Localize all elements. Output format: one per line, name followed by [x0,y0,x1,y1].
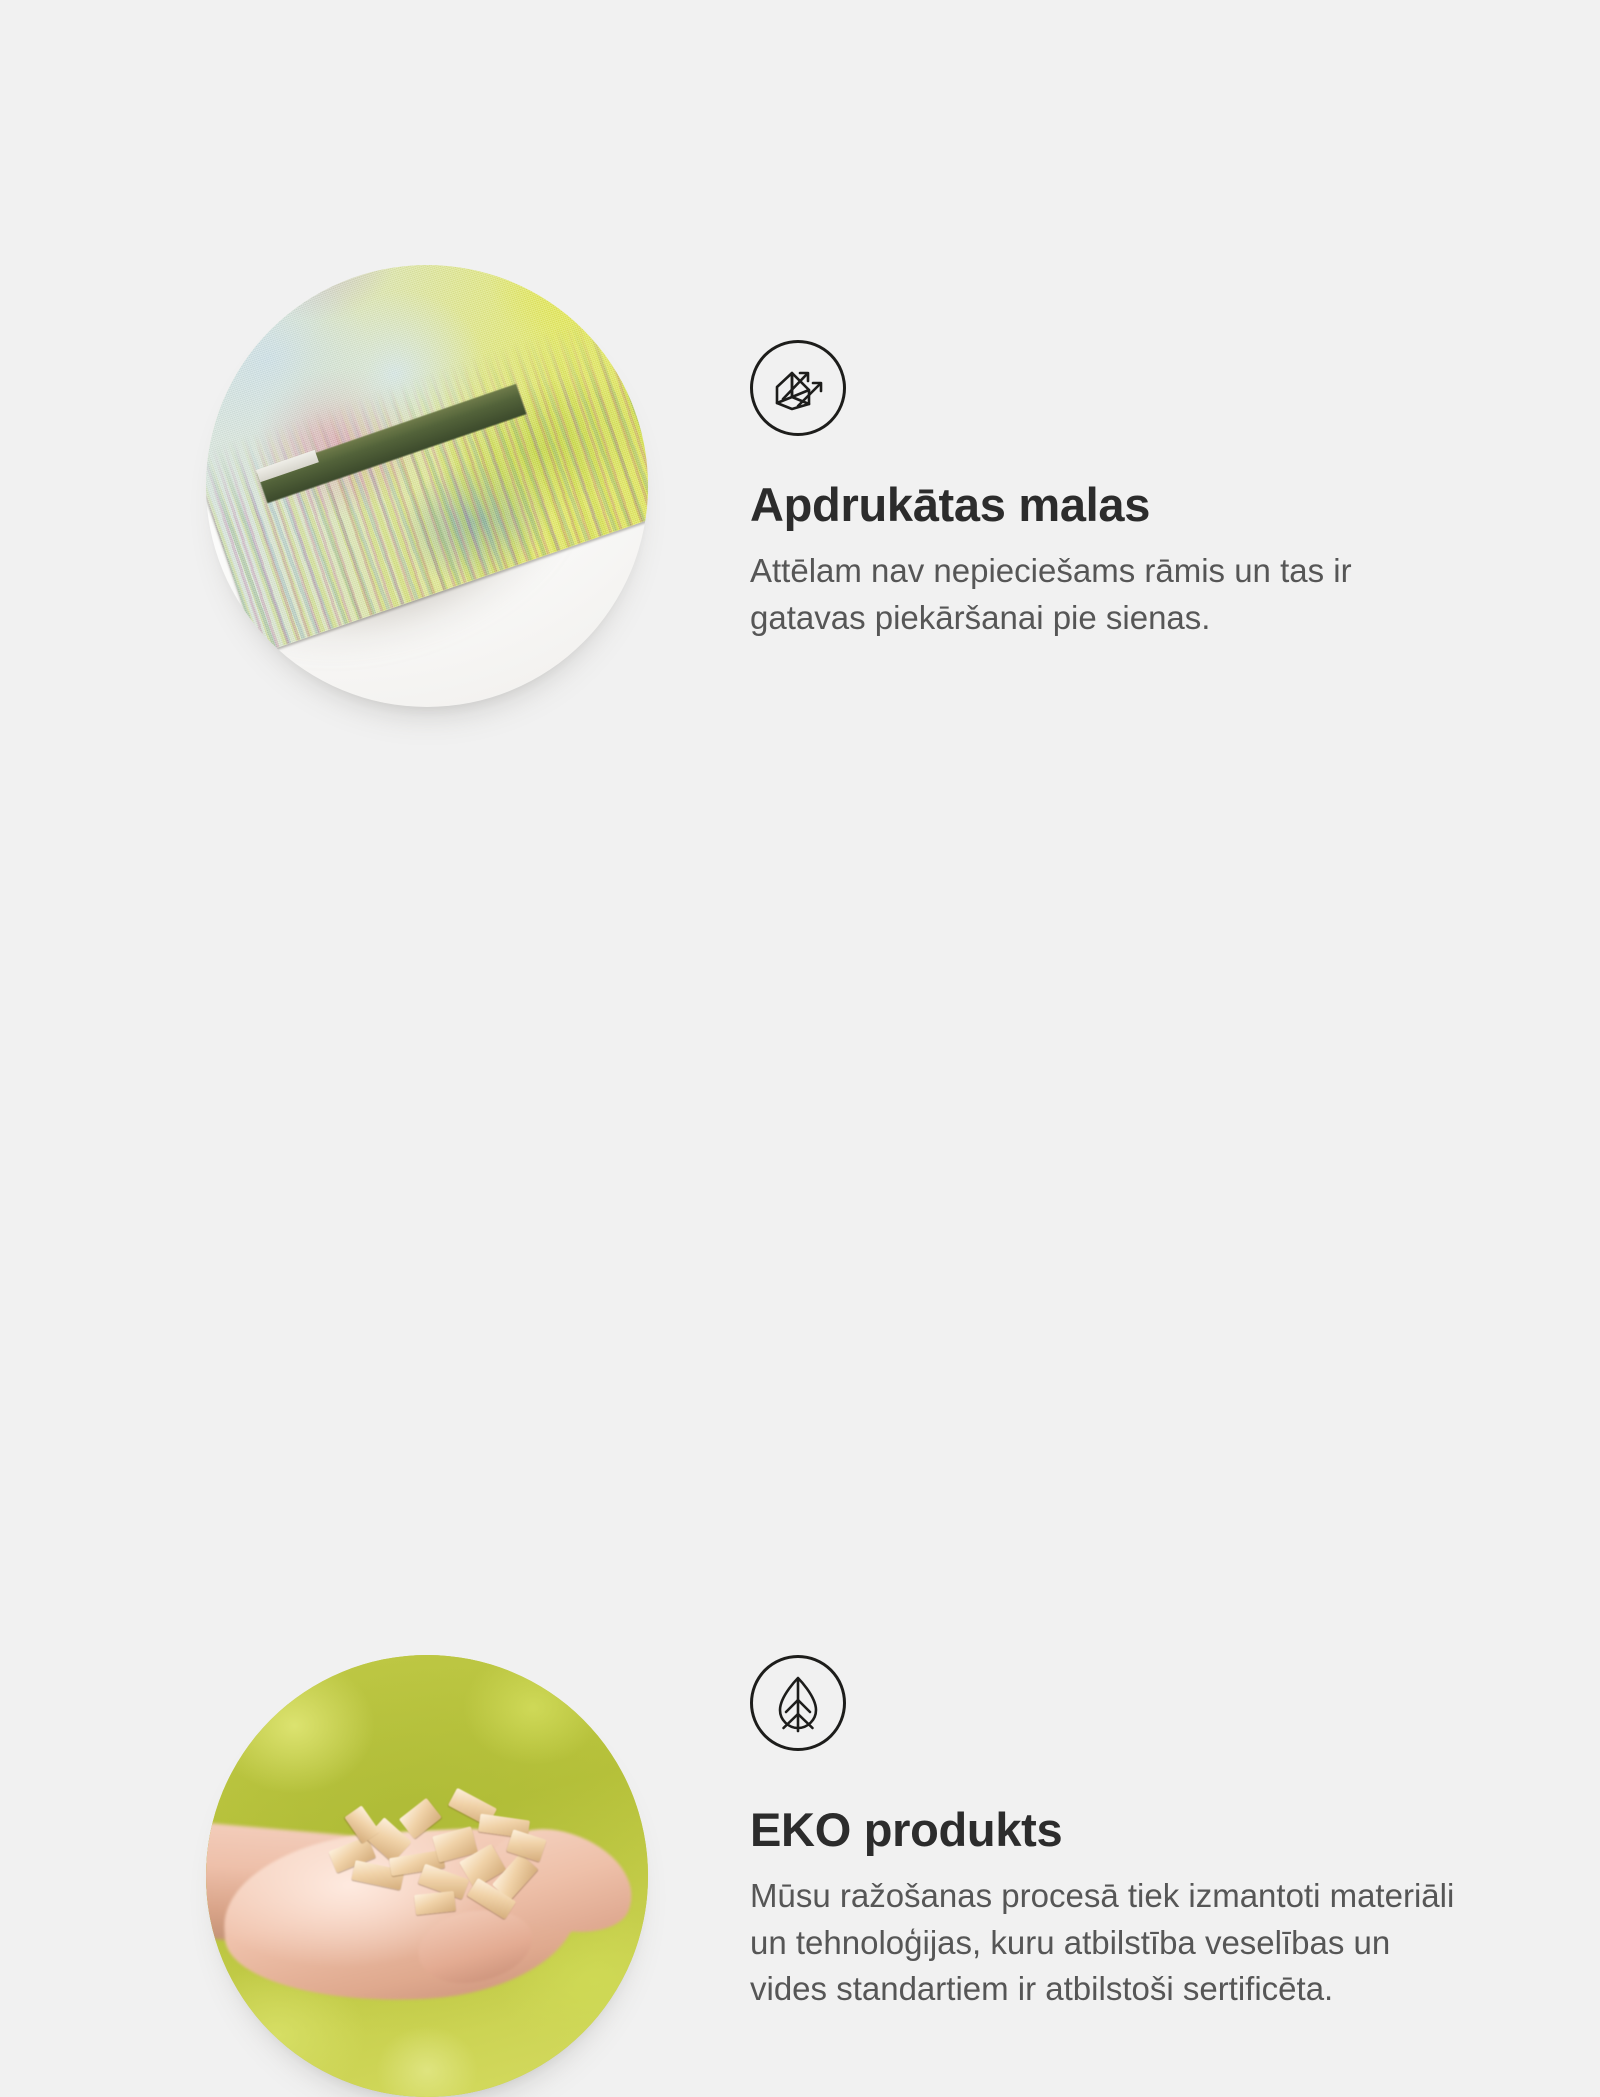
feature-content-printed-edges: Apdrukātas malas Attēlam nav nepieciešam… [750,340,1480,641]
feature-title-eco-product: EKO produkts [750,1804,1480,1856]
leaf-glyph [768,1673,828,1733]
feature-title-printed-edges: Apdrukātas malas [750,479,1480,531]
feature-printed-edges: Apdrukātas malas Attēlam nav nepieciešam… [0,0,1600,800]
feature-description-printed-edges: Attēlam nav nepieciešams rāmis un tas ir… [750,548,1472,642]
canvas-wrapped-edges-icon [750,340,846,436]
feature-image-printed-edges [206,265,648,707]
hand-holding-wood-chips-photo [206,1655,648,2097]
feature-content-eco-product: EKO produkts Mūsu ražošanas procesā tiek… [750,1655,1480,2013]
leaf-icon [750,1655,846,1751]
canvas-wrapped-edges-glyph [767,357,829,419]
feature-eco-product: EKO produkts Mūsu ražošanas procesā tiek… [0,800,1600,1600]
feature-description-eco-product: Mūsu ražošanas procesā tiek izmantoti ma… [750,1873,1472,2014]
feature-image-eco-product [206,1655,648,2097]
canvas-weave-texture [206,265,648,654]
feature-panel: Apdrukātas malas Attēlam nav nepieciešam… [0,0,1600,1600]
wood-chips-cluster [321,1783,569,1924]
canvas-printed-face [206,265,648,654]
canvas-corner-closeup-photo [206,265,648,707]
